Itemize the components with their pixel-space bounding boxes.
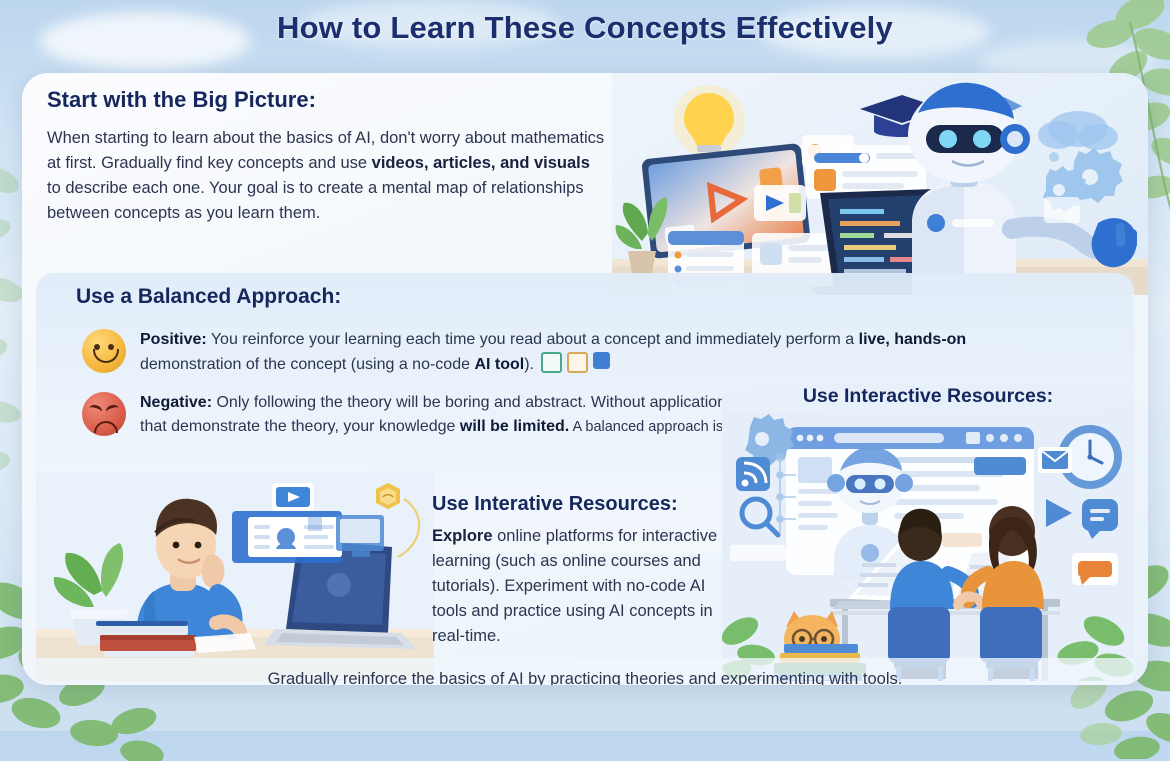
negative-point: Negative: Only following the theory will… — [82, 391, 762, 439]
profile-card — [232, 511, 342, 563]
positive-text-2: demonstration of the concept (using a no… — [140, 356, 474, 373]
small-card — [1044, 197, 1080, 223]
two-learners-with-robot-illustration — [722, 383, 1134, 681]
robot-with-laptop-illustration — [612, 73, 1148, 295]
positive-bold-1: live, hands-on — [859, 331, 967, 348]
main-content-card: Start with the Big Picture: When startin… — [22, 73, 1148, 685]
big-picture-heading: Start with the Big Picture: — [47, 87, 607, 113]
app-square-icon — [593, 352, 610, 369]
balanced-approach-heading: Use a Balanced Approach: — [76, 285, 341, 309]
positive-text: Positive: You reinforce your learning ea… — [140, 328, 1002, 377]
interactive-left-body: Explore online platforms for interactive… — [432, 524, 732, 649]
negative-label: Negative: — [140, 394, 212, 411]
section-big-picture: Start with the Big Picture: When startin… — [47, 87, 607, 226]
angry-sad-face-emoji — [82, 392, 126, 436]
interactive-left-bold-1: Explore — [432, 527, 493, 545]
small-card — [730, 545, 786, 561]
section-interactive-left: Use Interative Resources: Explore online… — [432, 493, 732, 649]
message-card — [1072, 553, 1118, 585]
window-outline-icon — [541, 352, 562, 373]
student-at-desk-illustration — [36, 473, 434, 681]
rss-icon — [736, 457, 770, 491]
page-fold-icon — [567, 352, 588, 373]
big-picture-text-2: to describe each one. Your goal is to cr… — [47, 179, 584, 222]
page-title: How to Learn These Concepts Effectively — [0, 10, 1170, 46]
video-card — [272, 483, 314, 511]
video-card — [754, 185, 806, 221]
monitor-shape — [336, 515, 384, 557]
big-picture-body: When starting to learn about the basics … — [47, 126, 607, 226]
footer-summary: Gradually reinforce the basics of AI by … — [36, 658, 1134, 685]
negative-bold-1: will be limited. — [460, 418, 569, 435]
positive-point: Positive: You reinforce your learning ea… — [82, 328, 1002, 377]
stacked-books — [96, 621, 196, 657]
big-picture-bold-1: videos, articles, and visuals — [372, 154, 590, 172]
interactive-left-heading: Use Interative Resources: — [432, 493, 732, 516]
happy-face-emoji — [82, 329, 126, 373]
mini-icon-group — [541, 352, 610, 373]
email-icon — [1038, 447, 1072, 473]
interactive-right-heading: Use Interactive Resources: — [722, 385, 1134, 408]
positive-bold-2: AI tool — [474, 356, 524, 373]
footer-text: Gradually reinforce the basics of AI by … — [268, 670, 903, 686]
negative-text: Negative: Only following the theory will… — [140, 391, 762, 439]
positive-text-1: You reinforce your learning each time yo… — [207, 331, 859, 348]
positive-text-3: ). — [524, 356, 534, 373]
positive-label: Positive: — [140, 331, 207, 348]
